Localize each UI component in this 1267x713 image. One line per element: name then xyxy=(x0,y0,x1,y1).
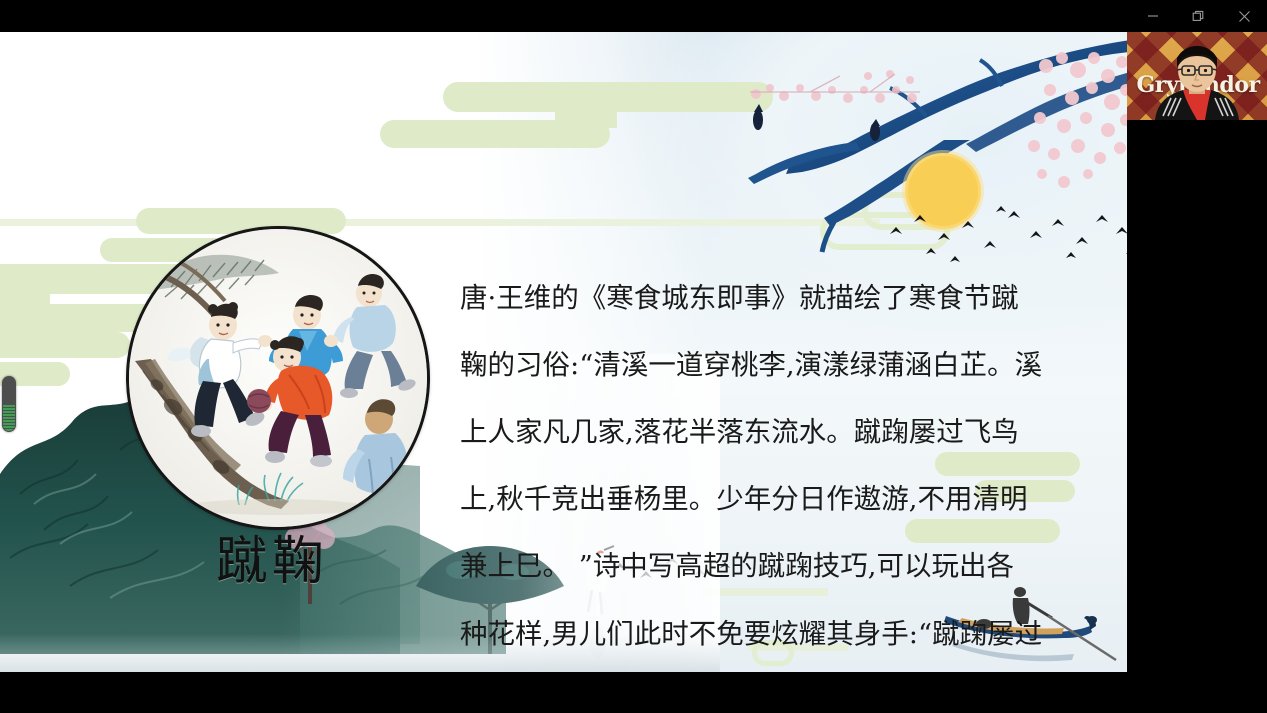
app-window: 蹴鞠 唐·王维的《寒食城东即事》就描绘了寒食节蹴 鞠的习俗:“清溪一道穿桃李,演… xyxy=(0,0,1267,713)
body-line: 唐·王维的《寒食城东即事》就描绘了寒食节蹴 xyxy=(460,282,1060,316)
restore-icon xyxy=(1192,10,1205,23)
slide-caption: 蹴鞠 xyxy=(216,536,328,588)
window-titlebar xyxy=(0,0,1267,32)
cuju-children-painting[interactable] xyxy=(126,226,430,530)
slide-body-text: 唐·王维的《寒食城东即事》就描绘了寒食节蹴 鞠的习俗:“清溪一道穿桃李,演漾绿蒲… xyxy=(460,248,1060,672)
close-icon xyxy=(1238,10,1251,23)
presentation-slide[interactable]: 蹴鞠 唐·王维的《寒食城东即事》就描绘了寒食节蹴 鞠的习俗:“清溪一道穿桃李,演… xyxy=(0,32,1127,672)
audio-level-fill xyxy=(3,405,15,431)
audio-level-meter[interactable] xyxy=(2,376,16,432)
minimize-icon xyxy=(1147,10,1159,22)
close-button[interactable] xyxy=(1222,0,1267,32)
cuju-ball xyxy=(247,389,271,413)
perched-birds xyxy=(753,104,880,141)
minimize-button[interactable] xyxy=(1130,0,1175,32)
restore-button[interactable] xyxy=(1176,0,1221,32)
webcam-person xyxy=(1149,46,1245,120)
cuju-painting-artwork xyxy=(129,229,421,521)
body-line: 兼上巳。 ”诗中写高超的蹴踘技巧,可以玩出各 xyxy=(460,550,1060,584)
body-line: 上人家凡几家,落花半落东流水。蹴踘屡过飞鸟 xyxy=(460,416,1060,450)
letterbox-bottom xyxy=(0,672,1267,713)
body-line: 上,秋千竞出垂杨里。少年分日作遨游,不用清明 xyxy=(460,483,1060,517)
webcam-overlay[interactable]: Gryffindor xyxy=(1127,32,1267,120)
body-line: 种花样,男儿们此时不免要炫耀其身手:“蹴踘屡过 xyxy=(460,618,1060,652)
body-line: 鞠的习俗:“清溪一道穿桃李,演漾绿蒲涵白芷。溪 xyxy=(460,349,1060,383)
child-upper-right xyxy=(324,274,417,398)
letterbox-right xyxy=(1127,120,1267,713)
